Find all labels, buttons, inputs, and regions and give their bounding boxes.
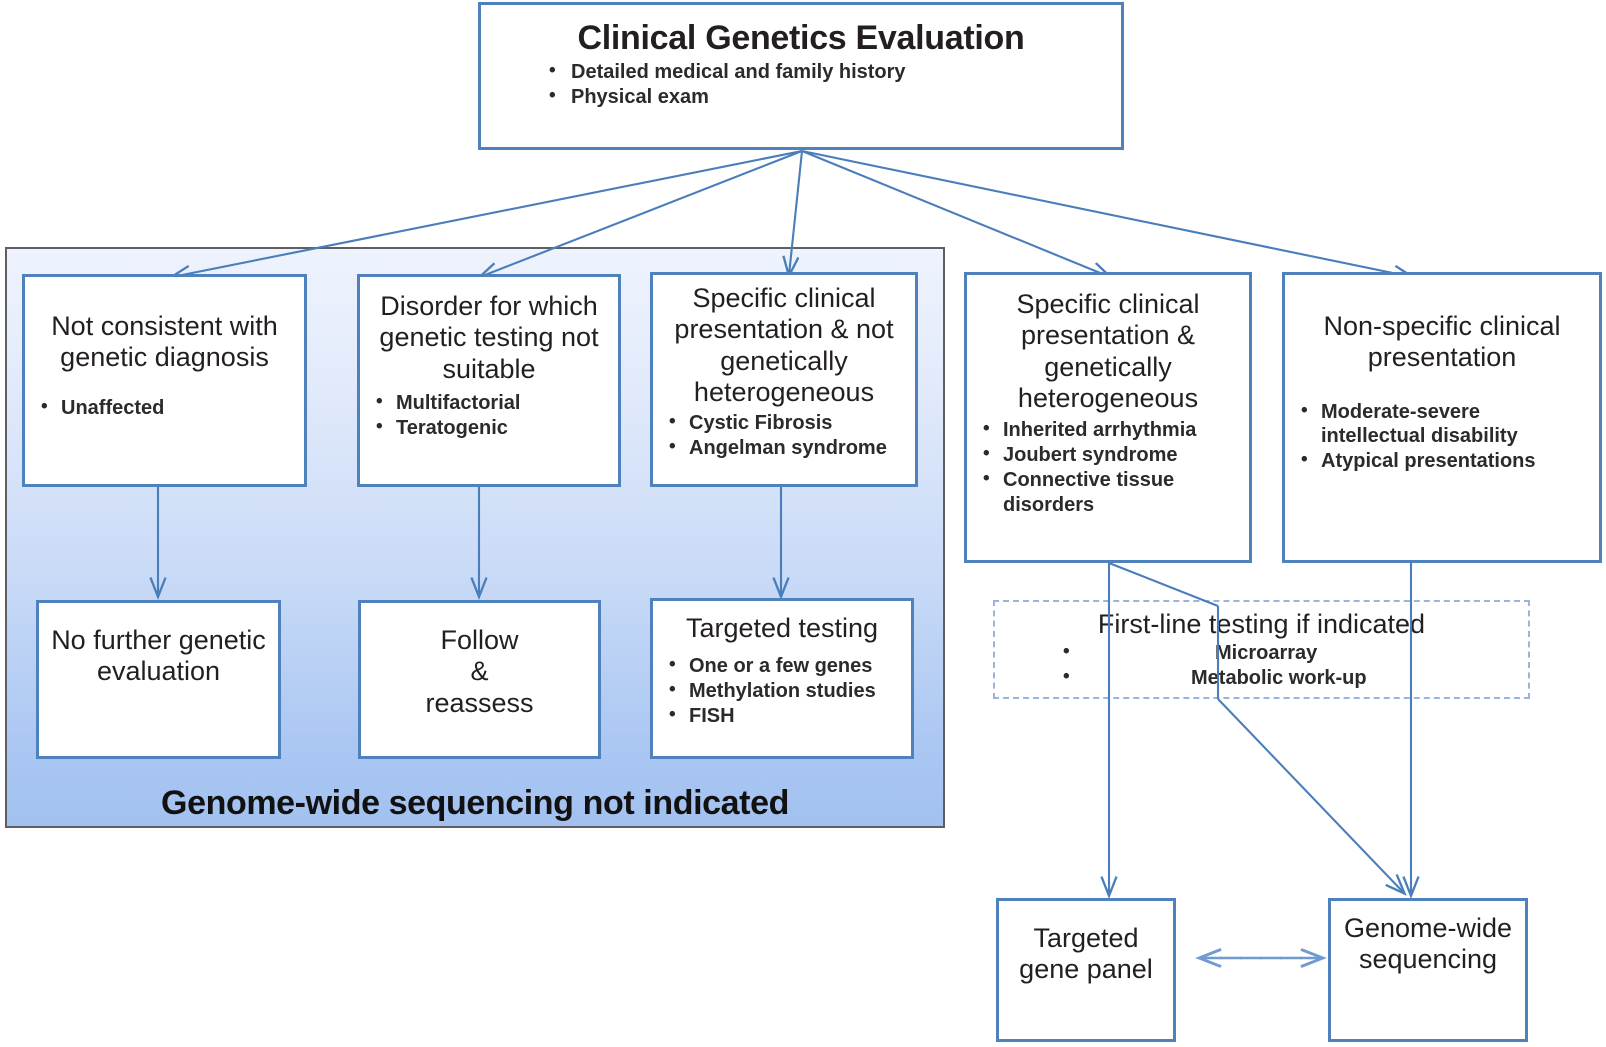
bullet-item: Connective tissue <box>973 468 1243 493</box>
bullet-item: Joubert syndrome <box>973 443 1243 468</box>
bullet-item: Metabolic work-up <box>1001 666 1522 691</box>
node-heading: Non-specific clinical presentation <box>1291 311 1593 374</box>
bullet-item: Multifactorial <box>366 391 612 416</box>
bullet-item: Atypical presentations <box>1291 449 1593 474</box>
node-first-line-testing-if-indicated[interactable]: First-line testing if indicated Microarr… <box>993 600 1530 699</box>
node-heading: Follow & reassess <box>367 625 592 719</box>
node-targeted-gene-panel[interactable]: Targeted gene panel <box>996 898 1176 1042</box>
node-heading: No further genetic evaluation <box>45 625 272 688</box>
bullet-item-continuation: intellectual disability <box>1291 424 1593 449</box>
bullet-item: Cystic Fibrosis <box>659 411 909 436</box>
bullet-item: Moderate-severe <box>1291 400 1593 425</box>
bullet-item: Detailed medical and family history <box>487 60 1115 85</box>
bullet-item: Physical exam <box>487 85 1115 110</box>
node-clinical-genetics-evaluation[interactable]: Clinical Genetics Evaluation Detailed me… <box>478 2 1124 150</box>
node-heading: Not consistent with genetic diagnosis <box>31 311 298 374</box>
bullet-item: Methylation studies <box>659 679 905 704</box>
node-bullets: Moderate-severe intellectual disability … <box>1291 400 1593 474</box>
node-genome-wide-sequencing[interactable]: Genome-wide sequencing <box>1328 898 1528 1042</box>
node-targeted-testing[interactable]: Targeted testing One or a few genes Meth… <box>650 598 914 759</box>
bullet-item-continuation: disorders <box>973 493 1243 518</box>
bullet-item: Inherited arrhythmia <box>973 418 1243 443</box>
node-heading: Disorder for which genetic testing not s… <box>366 291 612 385</box>
node-bullets: Detailed medical and family history Phys… <box>487 60 1115 110</box>
node-bullets: Unaffected <box>31 396 298 421</box>
node-no-further-genetic-evaluation[interactable]: No further genetic evaluation <box>36 600 281 759</box>
node-follow-and-reassess[interactable]: Follow & reassess <box>358 600 601 759</box>
node-heading: Clinical Genetics Evaluation <box>487 19 1115 58</box>
node-specific-presentation-not-heterogeneous[interactable]: Specific clinical presentation & not gen… <box>650 272 918 487</box>
node-heading: Genome-wide sequencing <box>1337 913 1519 976</box>
node-disorder-genetic-testing-not-suitable[interactable]: Disorder for which genetic testing not s… <box>357 274 621 487</box>
node-heading: First-line testing if indicated <box>1001 609 1522 640</box>
bullet-item: One or a few genes <box>659 654 905 679</box>
region-label-genome-wide-not-indicated: Genome-wide sequencing not indicated <box>5 784 945 823</box>
node-bullets: Cystic Fibrosis Angelman syndrome <box>659 411 909 461</box>
flowchart-canvas: Clinical Genetics Evaluation Detailed me… <box>0 0 1606 1047</box>
bullet-item: FISH <box>659 704 905 729</box>
node-heading: Targeted testing <box>659 613 905 644</box>
node-heading: Specific clinical presentation & not gen… <box>659 283 909 408</box>
node-heading: Specific clinical presentation & genetic… <box>973 289 1243 414</box>
bullet-item: Teratogenic <box>366 416 612 441</box>
node-heading: Targeted gene panel <box>1005 923 1167 986</box>
bullet-item: Angelman syndrome <box>659 436 909 461</box>
node-bullets: One or a few genes Methylation studies F… <box>659 654 905 728</box>
bullet-item: Unaffected <box>31 396 298 421</box>
node-specific-presentation-genetically-heterogeneous[interactable]: Specific clinical presentation & genetic… <box>964 272 1252 563</box>
node-bullets: Multifactorial Teratogenic <box>366 391 612 441</box>
final-arrows <box>1109 699 1411 895</box>
node-non-specific-clinical-presentation[interactable]: Non-specific clinical presentation Moder… <box>1282 272 1602 563</box>
node-bullets: Inherited arrhythmia Joubert syndrome Co… <box>973 418 1243 517</box>
node-bullets: Microarray Metabolic work-up <box>1001 641 1522 691</box>
bullet-item: Microarray <box>1001 641 1522 666</box>
node-not-consistent-with-genetic-diagnosis[interactable]: Not consistent with genetic diagnosis Un… <box>22 274 307 487</box>
